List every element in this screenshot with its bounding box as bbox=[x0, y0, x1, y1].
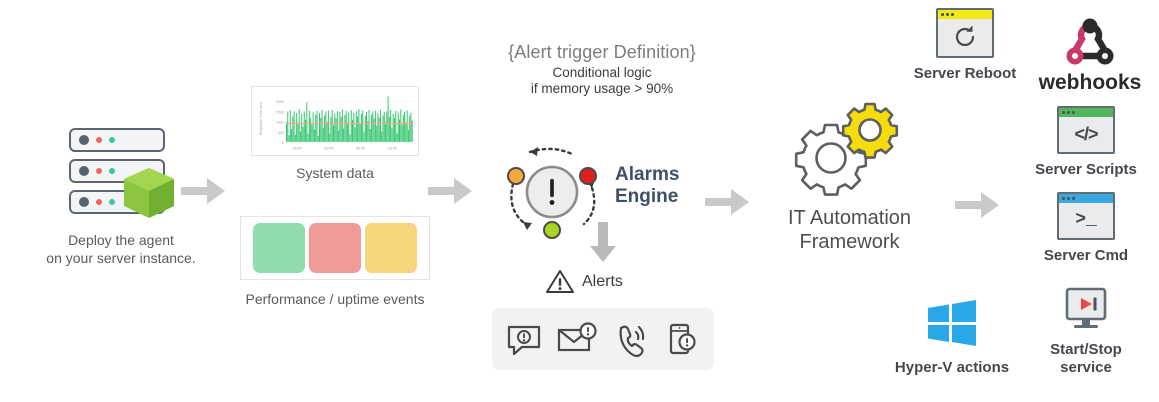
alert-def-line2: Conditional logic bbox=[452, 65, 752, 80]
mobile-alert-icon[interactable] bbox=[663, 320, 701, 358]
itaf-caption-line1: IT Automation bbox=[752, 206, 947, 230]
alerts-label: Alerts bbox=[582, 273, 623, 291]
action-label: Server Scripts bbox=[1020, 161, 1152, 179]
rack-led-green bbox=[109, 168, 115, 174]
svg-text:500: 500 bbox=[278, 131, 284, 135]
monitor-play-icon bbox=[1056, 286, 1116, 334]
chat-alert-icon[interactable] bbox=[505, 320, 543, 358]
phone-call-icon[interactable] bbox=[612, 320, 650, 358]
flow-arrow-4 bbox=[955, 190, 1001, 220]
action-start-stop-service[interactable]: Start/Stop service bbox=[1020, 286, 1152, 377]
svg-text:0: 0 bbox=[282, 141, 284, 145]
rack-led-red bbox=[96, 137, 102, 143]
stage-performance-events: Performance / uptime events bbox=[235, 216, 435, 309]
two-gears-icon bbox=[787, 100, 912, 196]
svg-text:2000: 2000 bbox=[276, 100, 284, 104]
deploy-caption-line2: on your server instance. bbox=[36, 250, 206, 268]
stage-it-automation-framework: IT Automation Framework bbox=[752, 100, 947, 255]
deploy-caption: Deploy the agent on your server instance… bbox=[36, 232, 206, 267]
event-square-green bbox=[253, 223, 305, 273]
alert-def-title: {Alert trigger Definition} bbox=[452, 42, 752, 63]
svg-text:Response Time (ms): Response Time (ms) bbox=[259, 102, 263, 135]
system-data-chart: 0500100015002000Response Time (ms)16:002… bbox=[251, 86, 419, 156]
webhooks-logo bbox=[1060, 18, 1120, 70]
alarms-label-line1: Alarms bbox=[615, 164, 735, 186]
rack-led-main bbox=[79, 135, 89, 145]
system-data-caption: System data bbox=[240, 165, 430, 183]
action-label: Server Reboot bbox=[895, 65, 1035, 83]
alert-def-line3: if memory usage > 90% bbox=[452, 81, 752, 96]
action-server-reboot[interactable]: Server Reboot bbox=[895, 8, 1035, 83]
svg-text:13:00: 13:00 bbox=[388, 147, 397, 151]
action-label: Hyper-V actions bbox=[876, 359, 1028, 377]
action-webhooks[interactable]: webhooks bbox=[1028, 18, 1152, 95]
events-card bbox=[240, 216, 430, 280]
alerts-row: Alerts bbox=[545, 268, 623, 296]
window-terminal-icon: >_ bbox=[1057, 192, 1115, 240]
svg-text:20:00: 20:00 bbox=[324, 147, 333, 151]
window-code-icon: </> bbox=[1057, 106, 1115, 154]
window-reload-icon bbox=[936, 8, 994, 58]
rack-led-main bbox=[79, 166, 89, 176]
itaf-caption: IT Automation Framework bbox=[752, 206, 947, 255]
rack-led-red bbox=[96, 199, 102, 205]
code-symbol: </> bbox=[1059, 117, 1113, 151]
agent-cube-icon bbox=[122, 166, 176, 220]
deploy-caption-line1: Deploy the agent bbox=[36, 232, 206, 250]
rack-led-green bbox=[109, 199, 115, 205]
action-label: webhooks bbox=[1028, 71, 1152, 95]
action-server-cmd[interactable]: >_ Server Cmd bbox=[1020, 192, 1152, 265]
windows-logo-icon bbox=[920, 296, 984, 352]
terminal-symbol: >_ bbox=[1059, 203, 1113, 237]
svg-text:00:00: 00:00 bbox=[356, 147, 365, 151]
rack-led-red bbox=[96, 168, 102, 174]
flow-arrow-down bbox=[588, 222, 618, 262]
action-label-line1: Start/Stop bbox=[1020, 341, 1152, 359]
action-server-scripts[interactable]: </> Server Scripts bbox=[1020, 106, 1152, 179]
event-square-yellow bbox=[365, 223, 417, 273]
alert-trigger-definition: {Alert trigger Definition} Conditional l… bbox=[452, 42, 752, 96]
event-square-red bbox=[309, 223, 361, 273]
itaf-caption-line2: Framework bbox=[752, 230, 947, 254]
rack-unit bbox=[69, 128, 165, 152]
action-label-line2: service bbox=[1020, 359, 1152, 377]
notification-channels-panel bbox=[492, 308, 714, 370]
svg-text:16:00: 16:00 bbox=[293, 147, 302, 151]
svg-text:1000: 1000 bbox=[276, 121, 284, 125]
action-label: Start/Stop service bbox=[1020, 341, 1152, 377]
email-alert-icon[interactable] bbox=[556, 320, 598, 358]
server-rack-icon bbox=[69, 128, 173, 218]
flow-arrow-1 bbox=[181, 176, 227, 206]
svg-text:1500: 1500 bbox=[276, 110, 284, 114]
rack-led-green bbox=[109, 137, 115, 143]
events-caption: Performance / uptime events bbox=[235, 291, 435, 309]
response-time-chart-svg: 0500100015002000Response Time (ms)16:002… bbox=[256, 91, 416, 153]
action-label: Server Cmd bbox=[1020, 247, 1152, 265]
flow-arrow-3 bbox=[705, 187, 751, 217]
action-hyper-v[interactable]: Hyper-V actions bbox=[876, 296, 1028, 377]
warning-triangle-icon bbox=[545, 268, 575, 296]
flow-arrow-2 bbox=[428, 176, 474, 206]
stage-system-data: 0500100015002000Response Time (ms)16:002… bbox=[240, 86, 430, 183]
rack-led-main bbox=[79, 197, 89, 207]
